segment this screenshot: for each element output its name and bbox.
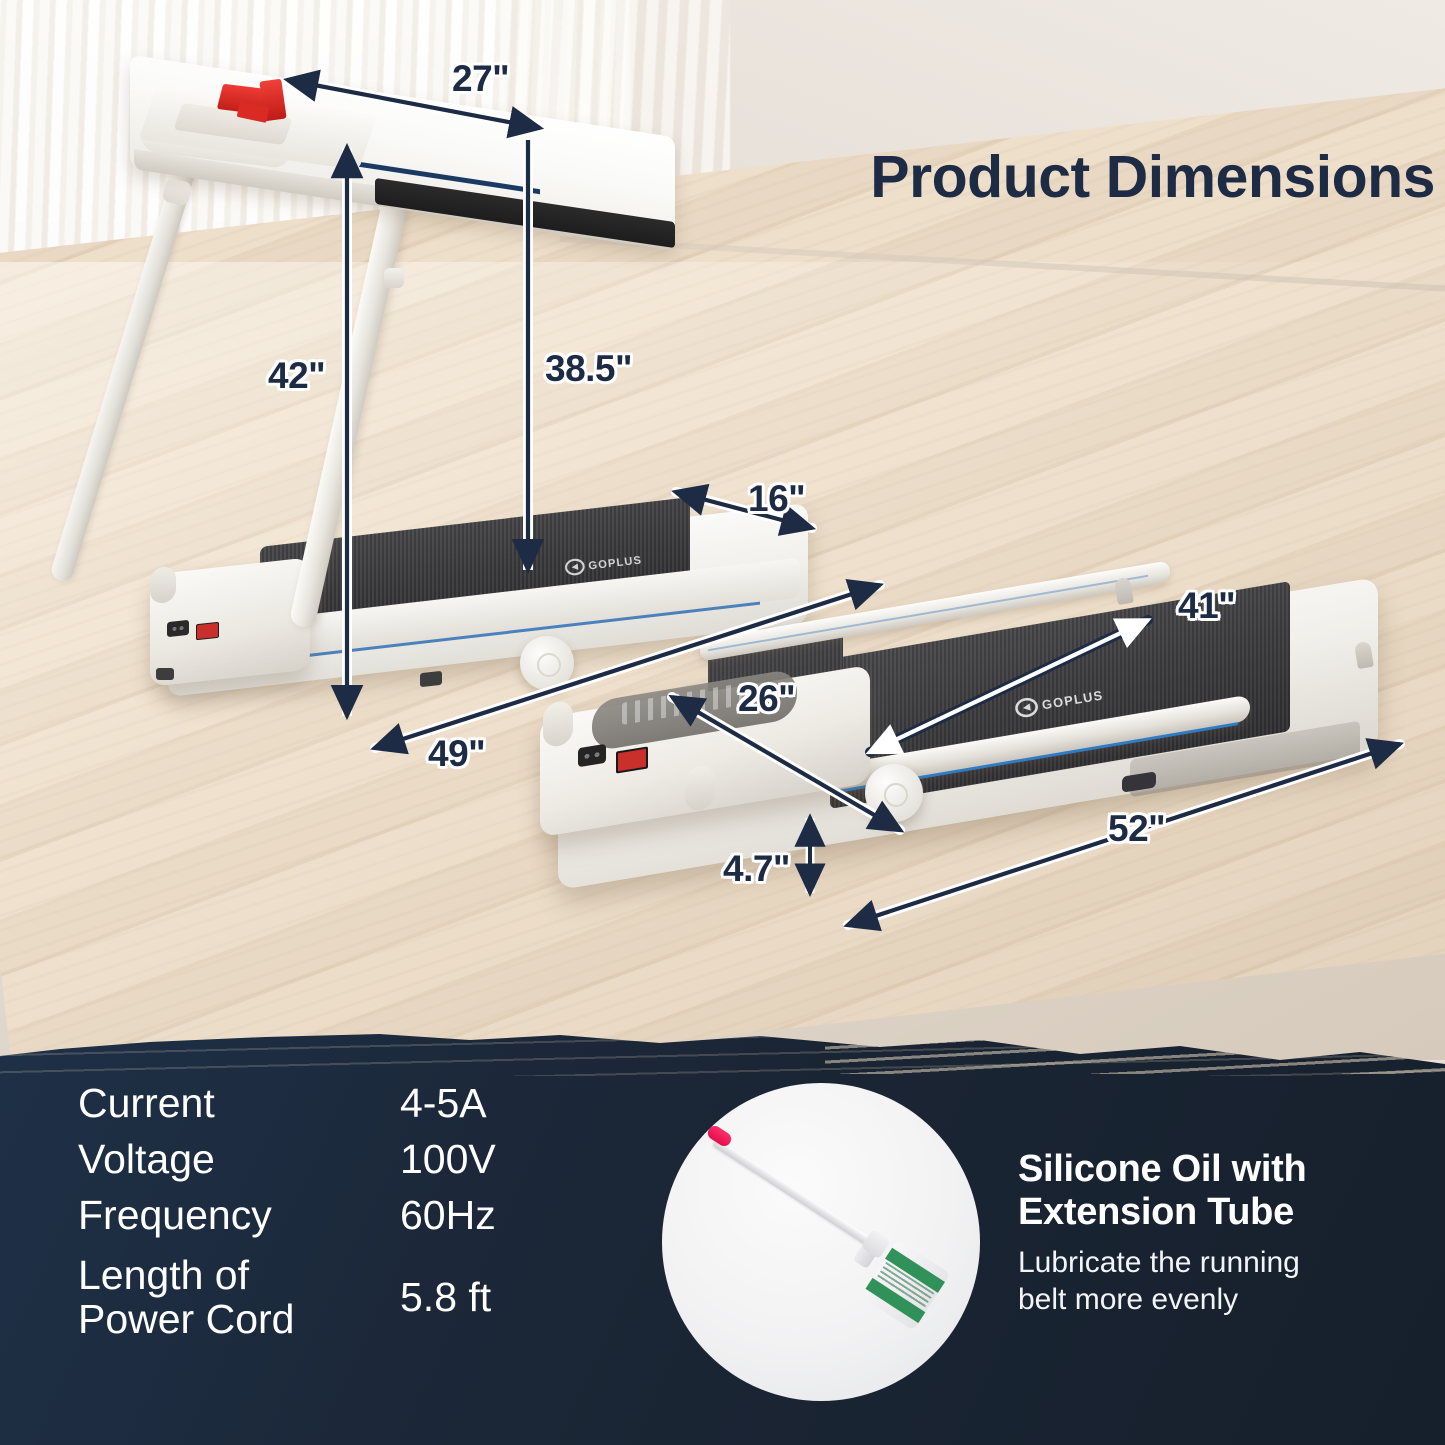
spec-value: 5.8 ft <box>400 1274 548 1321</box>
spec-label: Voltage <box>78 1137 215 1181</box>
spec-row-voltage: Voltage 100V <box>78 1131 548 1187</box>
feature-title: Silicone Oil with Extension Tube <box>1018 1148 1418 1233</box>
dimension-label-26: 26" <box>738 678 795 720</box>
treadmill-b-hinge-wheel <box>865 764 923 822</box>
dimension-label-27: 27" <box>452 58 509 100</box>
spec-row-frequency: Frequency 60Hz <box>78 1187 548 1243</box>
extension-tube <box>712 1138 880 1251</box>
dimension-label-42: 42" <box>268 355 325 397</box>
spec-value: 4-5A <box>400 1080 548 1127</box>
infographic-root: GOPLUS GOPLUS <box>0 0 1445 1445</box>
treadmill-flat-folded <box>530 560 1420 890</box>
dimension-label-52: 52" <box>1108 808 1165 850</box>
treadmill-a-foot-left <box>156 668 174 680</box>
dimension-label-38-5: 38.5" <box>545 348 632 390</box>
spec-row-cord-length: Length of Power Cord 5.8 ft <box>78 1243 548 1351</box>
dimension-label-16: 16" <box>748 478 805 520</box>
power-inlet-socket <box>167 620 189 637</box>
treadmill-a-foot-right <box>420 671 442 687</box>
silicone-oil-image <box>662 1083 980 1401</box>
treadmill-a-leg-knuckle-right <box>384 268 404 288</box>
spec-row-current: Current 4-5A <box>78 1075 548 1131</box>
specs-table: Current 4-5A Voltage 100V Frequency 60Hz… <box>78 1075 548 1351</box>
feature-text-block: Silicone Oil with Extension Tube Lubrica… <box>1018 1148 1418 1318</box>
spec-label: Length of Power Cord <box>78 1253 294 1342</box>
extension-tube-cap <box>705 1123 734 1148</box>
page-title: Product Dimensions <box>715 148 1435 207</box>
spec-label: Current <box>78 1081 215 1125</box>
dimension-label-49: 49" <box>428 733 485 775</box>
feature-subtitle: Lubricate the running belt more evenly <box>1018 1245 1418 1318</box>
power-rocker-switch <box>196 622 219 640</box>
spec-value: 60Hz <box>400 1192 548 1239</box>
spec-label: Frequency <box>78 1193 272 1237</box>
product-photo-scene: GOPLUS GOPLUS <box>0 0 1445 1060</box>
dimension-label-41: 41" <box>1178 585 1235 627</box>
spec-value: 100V <box>400 1136 548 1183</box>
dimension-label-4-7: 4.7" <box>723 848 790 890</box>
